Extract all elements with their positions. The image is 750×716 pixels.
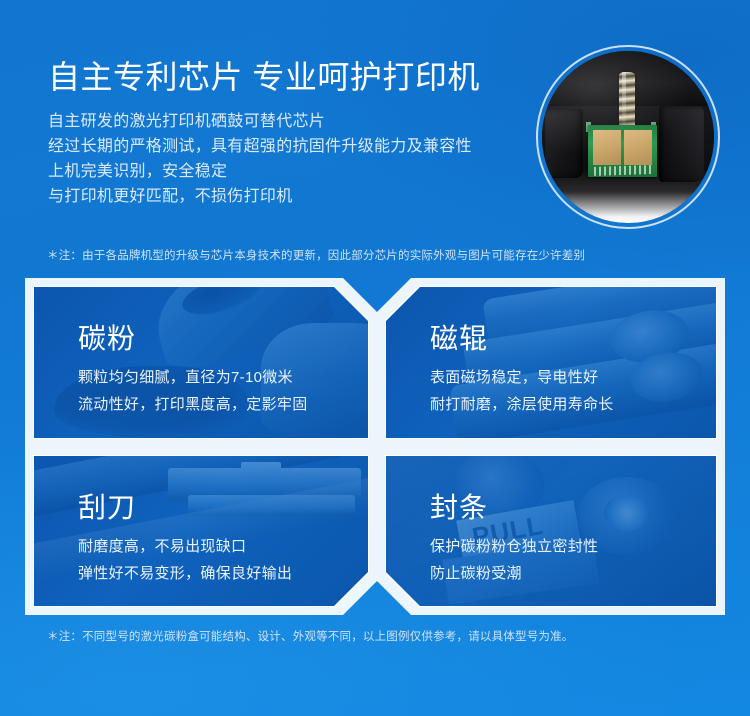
blade-mounting-tab [241, 462, 281, 480]
card-description-list: 颗粒均匀细腻，直径为7-10微米 流动性好，打印黑度高，定影牢固 [78, 364, 308, 418]
promo-banner: 自主专利芯片 专业呵护打印机 自主研发的激光打印机硒鼓可替代芯片 经过长期的严格… [0, 0, 750, 716]
card-body: 刮刀 耐磨度高，不易出现缺口 弹性好不易变形，确保良好输出 [34, 456, 368, 606]
feature-card-magnetic-roller: 磁辊 表面磁场稳定，导电性好 耐打耐磨，涂层使用寿命长 [377, 278, 725, 447]
card-description-list: 保护碳粉粉仓独立密封性 防止碳粉受潮 [430, 533, 598, 587]
cartridge-gear [604, 495, 650, 531]
card-description-line: 弹性好不易变形，确保良好输出 [78, 560, 292, 587]
card-description-line: 表面磁场稳定，导电性好 [430, 364, 614, 391]
card-title: 碳粉 [78, 321, 308, 357]
chip-photo-image [542, 51, 714, 223]
hero-description-list: 自主研发的激光打印机硒鼓可替代芯片 经过长期的严格测试，具有超强的抗固件升级能力… [48, 109, 518, 209]
disclaimer-note-top: ＊注：由于各品牌机型的升级与芯片本身技术的更新，因此部分芯片的实际外观与图片可能… [47, 248, 585, 264]
card-description-line: 防止碳粉受潮 [430, 560, 598, 587]
card-description-line: 流动性好，打印黑度高，定影牢固 [78, 391, 308, 418]
card-description-line: 保护碳粉粉仓独立密封性 [430, 533, 598, 560]
hero-description-line: 经过长期的严格测试，具有超强的抗固件升级能力及兼容性 [48, 134, 518, 159]
hero-description-line: 与打印机更好匹配，不损伤打印机 [48, 184, 518, 209]
feature-card-seal: PULL 封条 保护碳粉粉仓独立密封性 防止碳粉受潮 [377, 447, 725, 615]
page-title: 自主专利芯片 专业呵护打印机 [48, 55, 518, 99]
hero-description-line: 上机完美识别，安全稳定 [48, 159, 518, 184]
card-description-line: 耐磨度高，不易出现缺口 [78, 533, 292, 560]
card-text-block: 刮刀 耐磨度高，不易出现缺口 弹性好不易变形，确保良好输出 [78, 490, 292, 587]
disclaimer-note-bottom: ＊注：不同型号的激光碳粉盒可能结构、设计、外观等不同，以上图例仅供参考，请以具体… [47, 629, 574, 645]
photo-gloss-overlay [542, 51, 714, 223]
feature-card-toner: 碳粉 颗粒均匀细腻，直径为7-10微米 流动性好，打印黑度高，定影牢固 [25, 278, 377, 447]
card-description-list: 耐磨度高，不易出现缺口 弹性好不易变形，确保良好输出 [78, 533, 292, 587]
card-title: 刮刀 [78, 490, 292, 526]
card-description-line: 颗粒均匀细腻，直径为7-10微米 [78, 364, 308, 391]
hero-section: 自主专利芯片 专业呵护打印机 自主研发的激光打印机硒鼓可替代芯片 经过长期的严格… [48, 55, 518, 209]
card-body: PULL 封条 保护碳粉粉仓独立密封性 防止碳粉受潮 [386, 456, 716, 606]
hero-description-line: 自主研发的激光打印机硒鼓可替代芯片 [48, 109, 518, 134]
feature-card-grid: 碳粉 颗粒均匀细腻，直径为7-10微米 流动性好，打印黑度高，定影牢固 [25, 278, 725, 615]
card-title: 封条 [430, 490, 598, 526]
card-text-block: 碳粉 颗粒均匀细腻，直径为7-10微米 流动性好，打印黑度高，定影牢固 [78, 321, 308, 418]
card-body: 碳粉 颗粒均匀细腻，直径为7-10微米 流动性好，打印黑度高，定影牢固 [34, 287, 368, 438]
card-body: 磁辊 表面磁场稳定，导电性好 耐打耐磨，涂层使用寿命长 [386, 287, 716, 438]
card-description-list: 表面磁场稳定，导电性好 耐打耐磨，涂层使用寿命长 [430, 364, 614, 418]
card-description-line: 耐打耐磨，涂层使用寿命长 [430, 391, 614, 418]
card-text-block: 磁辊 表面磁场稳定，导电性好 耐打耐磨，涂层使用寿命长 [430, 321, 614, 418]
card-text-block: 封条 保护碳粉粉仓独立密封性 防止碳粉受潮 [430, 490, 598, 587]
card-title: 磁辊 [430, 321, 614, 357]
feature-card-wiper-blade: 刮刀 耐磨度高，不易出现缺口 弹性好不易变形，确保良好输出 [25, 447, 377, 615]
chip-photo-circle [536, 45, 720, 229]
